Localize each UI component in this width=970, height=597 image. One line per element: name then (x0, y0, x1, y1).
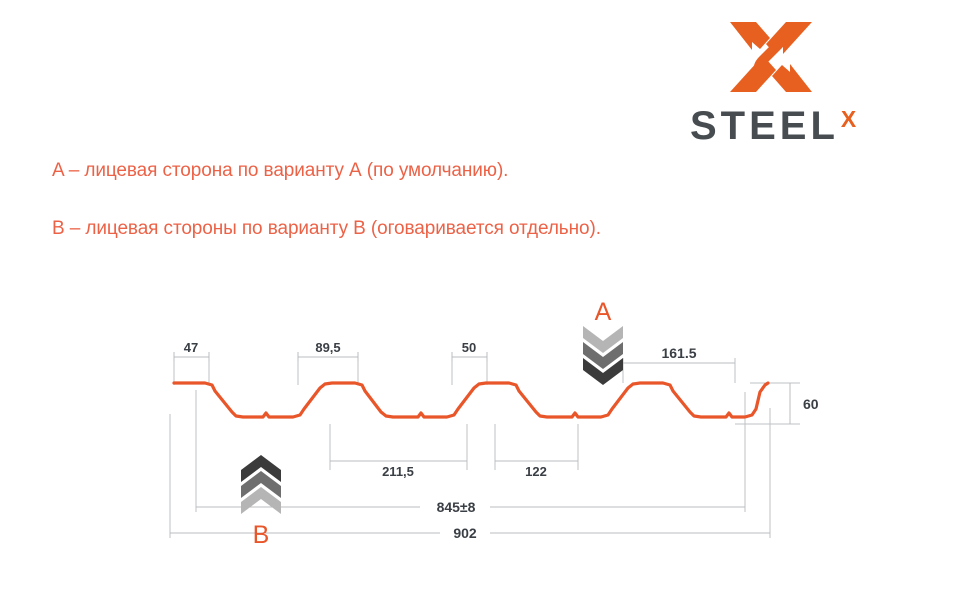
corrugated-profile-outline (174, 383, 768, 417)
dimension-label-845: 845±8 (437, 499, 476, 515)
dimension-label-161-5: 161.5 (661, 345, 696, 361)
witness-lines (170, 352, 800, 538)
dimension-label-211-5: 211,5 (382, 464, 414, 479)
logo-steel-text: STEEL (690, 106, 839, 146)
marker-a-chevrons-down (583, 326, 623, 385)
dimension-label-47: 47 (184, 340, 198, 355)
legend-line-variant-b: B – лицевая стороны по варианту B (огова… (52, 218, 601, 240)
logo-wordmark: STEEL X (690, 106, 890, 146)
dimension-label-122: 122 (525, 464, 547, 479)
marker-a-letter: A (595, 298, 612, 326)
dimension-label-902: 902 (453, 525, 477, 541)
dimension-label-50: 50 (462, 340, 476, 355)
top-dimension-lines (174, 357, 735, 363)
profile-technical-drawing: 47 89,5 50 161.5 211,5 122 845±8 902 60 … (0, 275, 970, 565)
marker-b-letter: B (253, 521, 270, 549)
logo-x-superscript: X (841, 108, 856, 131)
dimension-label-89-5: 89,5 (315, 340, 340, 355)
steelx-x-mark (730, 18, 812, 96)
brand-logo: STEEL X (690, 18, 890, 143)
marker-b-chevrons-up (241, 455, 281, 514)
legend-line-variant-a: A – лицевая сторона по варианту А (по ум… (52, 160, 508, 182)
dimension-label-60: 60 (803, 396, 819, 412)
